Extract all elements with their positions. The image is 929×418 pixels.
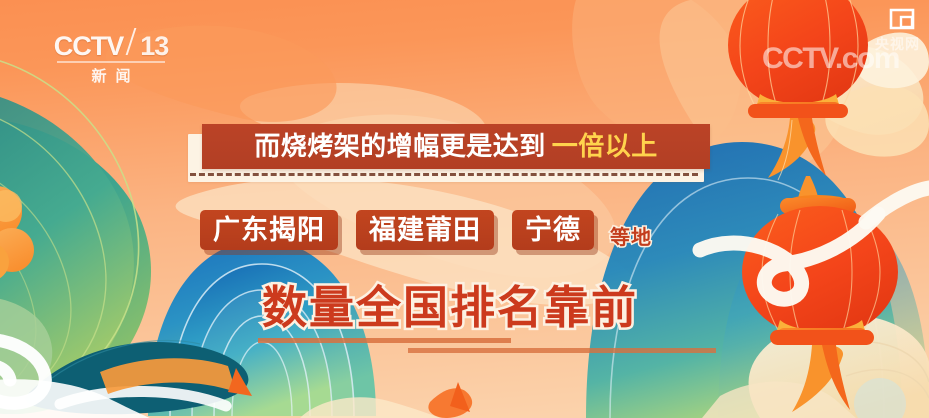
news-graphic-stage: CCTV 13 新闻 央视网 CCTV.com 而烧烤架的增幅更是达到 一倍以上… bbox=[0, 0, 929, 418]
location-tag-label: 宁德 bbox=[525, 217, 581, 244]
logo-subtitle: 新闻 bbox=[82, 65, 139, 86]
location-tag[interactable]: 宁德 bbox=[512, 210, 594, 250]
logo-top-row: CCTV 13 bbox=[54, 28, 169, 60]
headline-underline-secondary bbox=[408, 348, 716, 353]
location-tag-label: 广东揭阳 bbox=[213, 217, 325, 244]
main-headline: 数量全国排名靠前 bbox=[262, 278, 682, 336]
location-tag-label: 福建莆田 bbox=[369, 217, 481, 244]
location-tag[interactable]: 广东揭阳 bbox=[200, 210, 338, 250]
headline-underline-primary bbox=[258, 338, 511, 343]
banner-red-bar: 而烧烤架的增幅更是达到 一倍以上 bbox=[202, 124, 710, 169]
logo-slash-icon bbox=[125, 28, 138, 55]
watermark-cctv-label: CCTV.com bbox=[762, 44, 899, 74]
headline-banner: 而烧烤架的增幅更是达到 一倍以上 bbox=[196, 124, 712, 182]
logo-cctv-text: CCTV bbox=[54, 33, 124, 60]
logo-divider-rule bbox=[57, 61, 165, 63]
picture-in-picture-icon[interactable] bbox=[889, 8, 915, 30]
cctv-com-watermark: 央视网 CCTV.com bbox=[762, 34, 922, 78]
location-tag[interactable]: 福建莆田 bbox=[356, 210, 494, 250]
tag-suffix-label: 等地 bbox=[610, 221, 652, 250]
banner-main-text: 而烧烤架的增幅更是达到 bbox=[254, 134, 546, 160]
logo-channel-number: 13 bbox=[140, 33, 168, 60]
banner-dashed-rule bbox=[190, 173, 698, 176]
main-headline-text: 数量全国排名靠前 bbox=[262, 285, 638, 330]
location-tag-row: 广东揭阳 福建莆田 宁德 等地 bbox=[200, 206, 760, 254]
cctv13-channel-logo: CCTV 13 新闻 bbox=[52, 28, 170, 86]
banner-highlight-text: 一倍以上 bbox=[552, 134, 658, 160]
